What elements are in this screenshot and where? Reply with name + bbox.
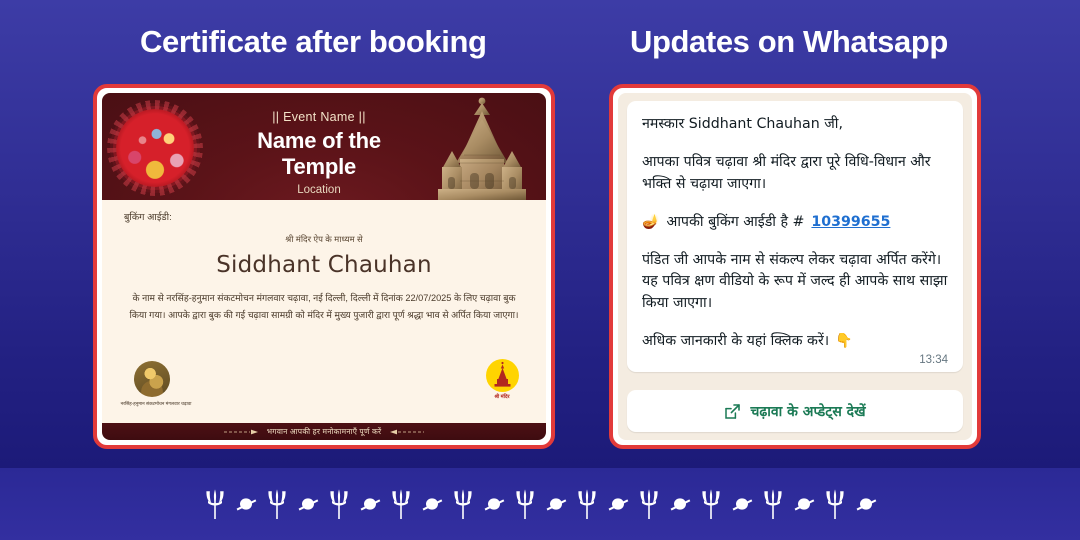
trishul-icon (824, 489, 846, 519)
message-greeting: नमस्कार Siddhant Chauhan जी, (642, 114, 948, 135)
certificate-location: Location (222, 184, 416, 196)
trishul-icon (390, 489, 412, 519)
whatsapp-chat-wallpaper: नमस्कार Siddhant Chauhan जी, आपका पवित्र… (618, 93, 972, 440)
trishul-icon (762, 489, 784, 519)
trishul-icon (328, 489, 350, 519)
certificate-footer-text: भगवान आपकी हर मनोकामनाएँ पूर्ण करें (267, 427, 382, 437)
pointing-down-hand-icon: 👇 (835, 331, 852, 352)
trishul-icon (452, 489, 474, 519)
page-title-whatsapp: Updates on Whatsapp (630, 24, 948, 60)
temple-shikhara-image (422, 93, 542, 200)
spacer (642, 135, 948, 152)
shankh-icon (545, 489, 567, 519)
shankh-icon (235, 489, 257, 519)
trishul-icon (266, 489, 288, 519)
trishul-icon (700, 489, 722, 519)
booking-id-link[interactable]: 10399655 (811, 212, 890, 233)
bottom-symbol-strip (0, 468, 1080, 540)
shankh-icon (297, 489, 319, 519)
message-timestamp: 13:34 (642, 354, 948, 366)
page-title-certificate: Certificate after booking (140, 24, 487, 60)
logo-label: श्री मंदिर (480, 394, 524, 400)
certificate-booking-id-label: बुकिंग आईडी: (124, 210, 524, 223)
certificate-devotee-name: Siddhant Chauhan (124, 252, 524, 278)
whatsapp-card: नमस्कार Siddhant Chauhan जी, आपका पवित्र… (609, 84, 981, 449)
shri-mandir-logo: श्री मंदिर (480, 359, 524, 400)
shankh-icon (483, 489, 505, 519)
closing-text: अधिक जानकारी के यहां क्लिक करें। (642, 331, 829, 352)
diya-lamp-icon: 🪔 (642, 212, 659, 233)
message-paragraph-2: पंडित जी आपके नाम से संकल्प लेकर चढ़ावा … (642, 250, 948, 314)
spacer (642, 314, 948, 331)
certificate-footer: भगवान आपकी हर मनोकामनाएँ पूर्ण करें (102, 423, 546, 440)
spacer (642, 233, 948, 250)
trishul-icon (514, 489, 536, 519)
whatsapp-message-bubble: नमस्कार Siddhant Chauhan जी, आपका पवित्र… (627, 101, 963, 372)
temple-seal-caption: नरसिंह-हनुमान संकटमोचन मंगलवार चढ़ावा (110, 401, 202, 408)
booking-id-prefix: आपकी बुकिंग आईडी है # (666, 212, 804, 233)
shankh-icon (793, 489, 815, 519)
certificate-body-text: के नाम से नरसिंह-हनुमान संकटमोचन मंगलवार… (124, 290, 524, 324)
logo-circle (486, 359, 519, 392)
shankh-icon (669, 489, 691, 519)
trishul-icon (204, 489, 226, 519)
view-updates-label: चढ़ावा के अप्डेट्स देखें (750, 402, 865, 421)
spacer (642, 195, 948, 212)
arrow-right-icon (390, 429, 424, 435)
certificate-seals-row: नरसिंह-हनुमान संकटमोचन मंगलवार चढ़ावा श्… (102, 359, 546, 423)
shankh-icon (855, 489, 877, 519)
deity-collage-image (116, 109, 194, 187)
arrow-left-icon (224, 429, 258, 435)
temple-logo-icon (486, 359, 519, 392)
certificate-card: || Event Name || Name of the Temple Loca… (93, 84, 555, 449)
certificate-inner: || Event Name || Name of the Temple Loca… (102, 93, 546, 440)
headings-row: Certificate after booking Updates on Wha… (0, 0, 1080, 78)
message-booking-id-line: 🪔 आपकी बुकिंग आईडी है # 10399655 (642, 212, 948, 233)
view-updates-button[interactable]: चढ़ावा के अप्डेट्स देखें (627, 390, 963, 432)
shankh-icon (731, 489, 753, 519)
certificate-temple-name: Name of the Temple (222, 128, 416, 180)
temple-photo-seal (134, 361, 170, 397)
message-paragraph-1: आपका पवित्र चढ़ावा श्री मंदिर द्वारा पूर… (642, 152, 948, 195)
certificate-header: || Event Name || Name of the Temple Loca… (102, 93, 546, 200)
certificate-via-text: श्री मंदिर ऐप के माध्यम से (124, 234, 524, 245)
shankh-icon (421, 489, 443, 519)
shankh-icon (359, 489, 381, 519)
certificate-body: बुकिंग आईडी: श्री मंदिर ऐप के माध्यम से … (102, 200, 546, 359)
trishul-icon (576, 489, 598, 519)
shankh-icon (607, 489, 629, 519)
trishul-icon (638, 489, 660, 519)
certificate-event-name: || Event Name || (222, 110, 416, 124)
certificate-title-block: || Event Name || Name of the Temple Loca… (222, 110, 416, 196)
message-closing-line: अधिक जानकारी के यहां क्लिक करें। 👇 (642, 331, 948, 352)
external-link-icon (724, 403, 741, 420)
